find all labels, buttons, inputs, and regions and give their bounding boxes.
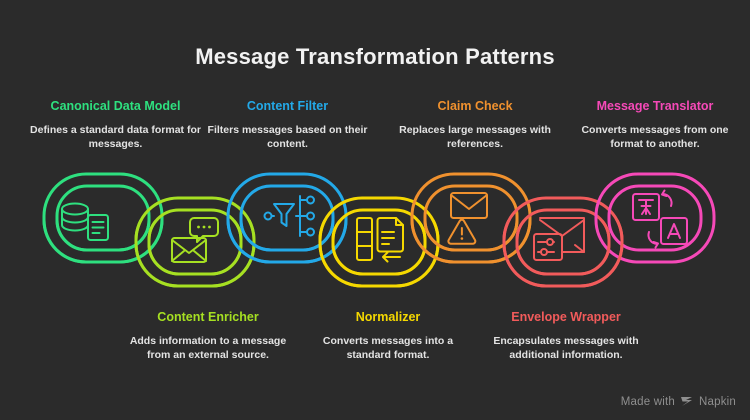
caption-title-content-filter: Content Filter [206,99,369,114]
funnel-nodes-icon [265,196,315,236]
caption-title-canonical-data-model: Canonical Data Model [28,99,203,114]
translate-icon [633,191,687,248]
caption-message-translator: Message Translator Converts messages fro… [570,99,740,151]
caption-content-filter: Content Filter Filters messages based on… [206,99,369,151]
page-title: Message Transformation Patterns [0,44,750,70]
caption-description-envelope-wrapper: Encapsulates messages with additional in… [478,334,654,362]
chain-diagram [0,160,750,300]
caption-description-canonical-data-model: Defines a standard data format for messa… [28,123,203,151]
infographic-canvas: Message Transformation Patterns Canonica… [0,0,750,420]
watermark-prefix: Made with [621,396,675,408]
chain-link-normalizer[interactable] [228,174,438,286]
watermark-brand: Napkin [699,396,736,408]
caption-title-envelope-wrapper: Envelope Wrapper [478,310,654,325]
envelope-chat-icon [172,218,218,262]
caption-description-content-enricher: Adds information to a message from an ex… [120,334,296,362]
chain-link-claim-check[interactable] [320,174,530,286]
napkin-logo-icon [680,395,694,408]
list-document-return-icon [357,218,403,262]
caption-title-normalizer: Normalizer [300,310,476,325]
caption-claim-check: Claim Check Replaces large messages with… [390,99,560,151]
caption-content-enricher: Content Enricher Adds information to a m… [120,310,296,362]
caption-description-claim-check: Replaces large messages with references. [390,123,560,151]
envelope-warning-icon [448,193,487,244]
watermark: Made with Napkin [621,395,736,408]
caption-description-message-translator: Converts messages from one format to ano… [570,123,740,151]
database-document-icon [62,204,108,241]
caption-title-content-enricher: Content Enricher [120,310,296,325]
chain-link-content-filter[interactable] [136,174,346,286]
caption-canonical-data-model: Canonical Data Model Defines a standard … [28,99,203,151]
chain-link-message-translator[interactable] [504,174,714,286]
caption-envelope-wrapper: Envelope Wrapper Encapsulates messages w… [478,310,654,362]
caption-normalizer: Normalizer Converts messages into a stan… [300,310,476,362]
envelope-settings-icon [534,218,584,260]
caption-description-content-filter: Filters messages based on their content. [206,123,369,151]
chain-link-envelope-wrapper[interactable] [412,174,622,286]
caption-title-message-translator: Message Translator [570,99,740,114]
caption-title-claim-check: Claim Check [390,99,560,114]
caption-description-normalizer: Converts messages into a standard format… [300,334,476,362]
